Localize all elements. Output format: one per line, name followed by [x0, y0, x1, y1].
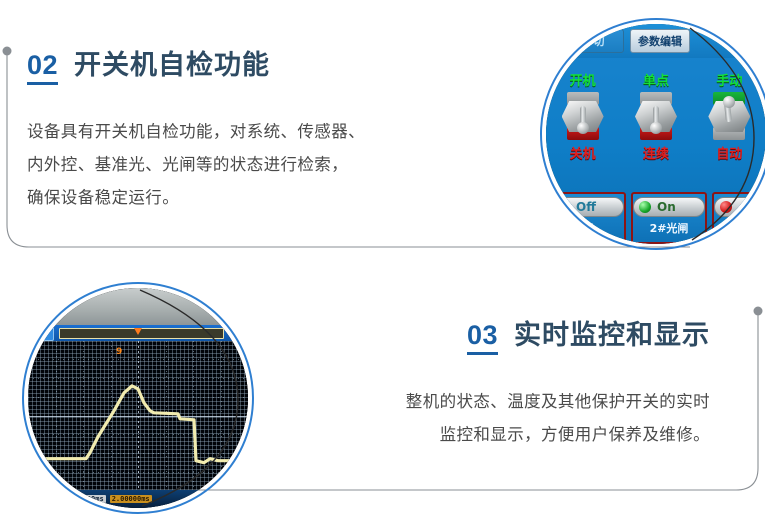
scope-bezel [28, 288, 248, 325]
oscilloscope-photo: 9 2.00ms 2.00000ms [28, 288, 248, 508]
section-02-body: 设备具有开关机自检功能，对系统、传感器、 内外控、基准光、光闸等的状态进行检索，… [27, 115, 497, 214]
shutter-button-2[interactable]: On 2#光闸 [631, 192, 707, 244]
section-03-number: 03 [467, 322, 498, 355]
section-02-title: 开关机自检功能 [74, 52, 270, 79]
toggle-switch-icon[interactable] [633, 92, 679, 140]
shutter-2-label: 2#光闸 [650, 220, 689, 236]
section-03-text: 03 实时监控和显示 整机的状态、温度及其他保护开关的实时 监控和显示，方便用户… [280, 322, 710, 451]
toggle-switch-icon[interactable] [706, 92, 752, 140]
switch-mode-single-label: 单点 [643, 70, 669, 89]
control-panel-photo-frame: 切 参数编辑 开机 关机 单点 [540, 18, 765, 250]
section-02-body-line: 确保设备稳定运行。 [27, 181, 497, 214]
panel-tab-bar: 切 参数编辑 [546, 24, 765, 58]
section-02-body-line: 内外控、基准光、光闸等的状态进行检索， [27, 148, 497, 181]
shutter-2-state: On [657, 200, 676, 214]
switch-power[interactable]: 开机 关机 [546, 70, 619, 162]
section-03-heading: 03 实时监控和显示 [280, 322, 710, 355]
scope-footer: 2.00ms 2.00000ms [28, 490, 248, 508]
shutter-button-row: Off 闸 On 2#光闸 [546, 192, 765, 244]
section-03-body-line: 整机的状态、温度及其他保护开关的实时 [280, 385, 710, 418]
switch-power-off-label: 关机 [570, 143, 596, 162]
shutter-button-1[interactable]: Off 闸 [550, 192, 626, 244]
shutter-1-label: 闸 [583, 220, 594, 236]
switch-mode-continuous-label: 连续 [643, 143, 669, 162]
scope-top-bar [28, 325, 248, 340]
led-red-icon [558, 201, 570, 213]
section-03-body: 整机的状态、温度及其他保护开关的实时 监控和显示，方便用户保养及维修。 [280, 385, 710, 451]
status-pill[interactable]: On [633, 197, 705, 217]
switch-mode[interactable]: 单点 连续 [619, 70, 692, 162]
tab-cut[interactable]: 切 [574, 29, 624, 53]
toggle-switch-row: 开机 关机 单点 连续 [546, 70, 765, 162]
switch-auto-label: 自动 [716, 143, 742, 162]
section-02-body-line: 设备具有开关机自检功能，对系统、传感器、 [27, 115, 497, 148]
section-02-text: 02 开关机自检功能 设备具有开关机自检功能，对系统、传感器、 内外控、基准光、… [27, 52, 497, 214]
scope-timebase-value: 2.00ms [76, 495, 105, 503]
switch-manual-label: 手动 [716, 70, 742, 89]
oscilloscope-photo-frame: 9 2.00ms 2.00000ms [22, 282, 254, 514]
led-green-icon [639, 201, 651, 213]
oscilloscope-screen: 9 2.00ms 2.00000ms [28, 288, 248, 508]
status-pill[interactable] [714, 197, 765, 217]
section-02-heading: 02 开关机自检功能 [27, 52, 497, 85]
section-03-body-line: 监控和显示，方便用户保养及维修。 [280, 418, 710, 451]
section-02-number: 02 [27, 52, 58, 85]
machine-control-panel: 切 参数编辑 开机 关机 单点 [546, 24, 765, 244]
switch-power-on-label: 开机 [570, 70, 596, 89]
switch-auto[interactable]: 手动 自动 [693, 70, 765, 162]
page-root: 02 开关机自检功能 设备具有开关机自检功能，对系统、传感器、 内外控、基准光、… [0, 0, 765, 527]
scope-trigger-marker-icon [134, 328, 142, 335]
scope-cursor-marker: 9 [116, 347, 122, 357]
led-red-icon [720, 201, 732, 213]
scope-channel-badge [32, 327, 54, 341]
control-panel-photo: 切 参数编辑 开机 关机 单点 [546, 24, 765, 244]
toggle-switch-icon[interactable] [560, 92, 606, 140]
scope-time-cursor-value: 2.00000ms [110, 495, 152, 503]
status-pill[interactable]: Off [552, 197, 624, 217]
shutter-button-3[interactable] [712, 192, 765, 244]
shutter-1-state: Off [576, 200, 596, 214]
scope-waveform-trace [28, 341, 248, 491]
section-03-title: 实时监控和显示 [514, 322, 710, 349]
tab-parameter-edit[interactable]: 参数编辑 [630, 29, 690, 53]
